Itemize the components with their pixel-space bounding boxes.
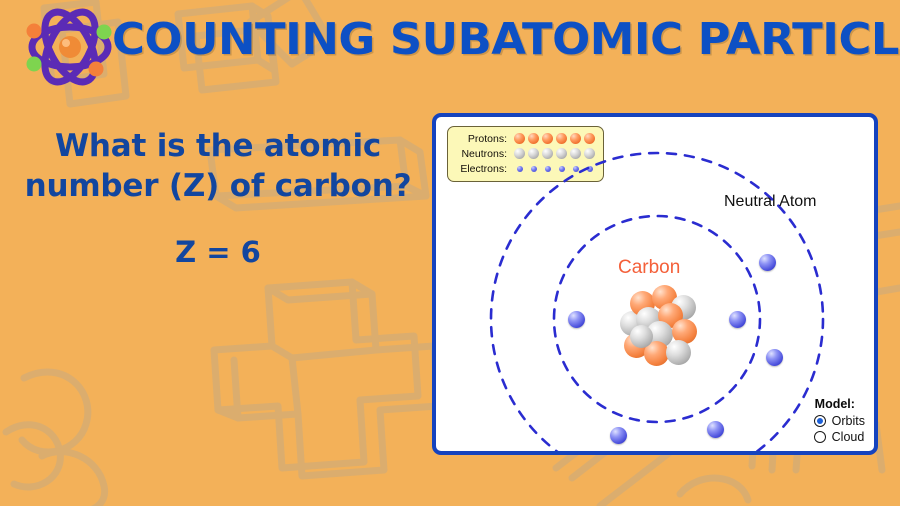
atom-icon (16, 6, 124, 88)
element-label: Carbon (618, 257, 680, 279)
electron-outer-lower-right[interactable] (707, 421, 724, 438)
radio-option-cloud[interactable]: Cloud (814, 430, 865, 444)
electron-outer-lower-left[interactable] (610, 427, 627, 444)
radio-orbits-label: Orbits (832, 414, 865, 428)
radio-cloud-label: Cloud (832, 430, 865, 444)
neutral-atom-label: Neutral Atom (724, 193, 816, 211)
neutron-sphere (630, 325, 653, 348)
model-controls-title: Model: (814, 397, 865, 411)
page-title: COUNTING SUBATOMIC PARTICLES (112, 14, 900, 65)
atom-simulation-panel[interactable]: Protons: Neutrons: Electrons: (432, 113, 878, 455)
atom-diagram[interactable]: Neutral Atom Carbon (436, 117, 874, 451)
electron-inner-left[interactable] (568, 311, 585, 328)
answer-text: Z = 6 (22, 235, 414, 269)
electron-outer-upper-right[interactable] (759, 254, 776, 271)
nucleus[interactable] (616, 285, 700, 367)
question-text: What is the atomic number (Z) of carbon? (22, 126, 414, 207)
neutron-sphere (666, 340, 691, 365)
question-block: What is the atomic number (Z) of carbon?… (22, 126, 414, 269)
page-header: COUNTING SUBATOMIC PARTICLES (0, 0, 900, 88)
electron-outer-right[interactable] (766, 349, 783, 366)
electron-orbit-rings (436, 117, 874, 451)
radio-option-orbits[interactable]: Orbits (814, 414, 865, 428)
radio-orbits-icon[interactable] (814, 415, 826, 427)
model-controls[interactable]: Model: Orbits Cloud (814, 397, 865, 444)
radio-cloud-icon[interactable] (814, 431, 826, 443)
electron-inner-right[interactable] (729, 311, 746, 328)
